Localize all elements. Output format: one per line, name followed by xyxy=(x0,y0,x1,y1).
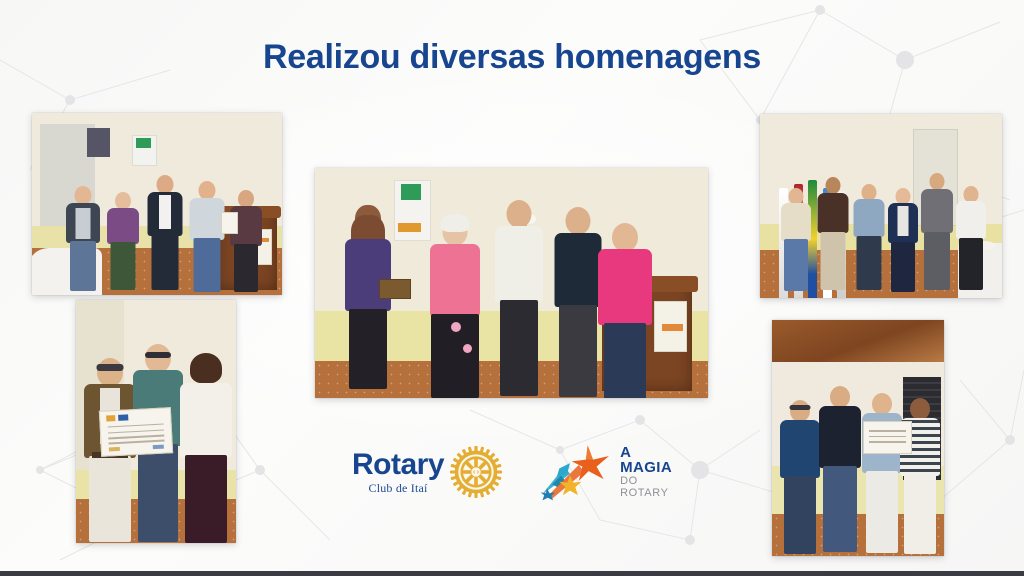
logo-area: Rotary Club de Itaí xyxy=(352,437,672,507)
rotary-wheel-icon xyxy=(450,446,502,498)
shooting-stars-icon xyxy=(538,440,616,504)
photo-top-right xyxy=(760,114,1002,298)
certificate xyxy=(863,421,911,454)
photo-top-left xyxy=(32,113,282,295)
slide-title: Realizou diversas homenagens xyxy=(0,38,1024,77)
rotary-club-name: Club de Itaí xyxy=(368,482,427,494)
rotary-wordmark: Rotary xyxy=(352,450,444,480)
theme-line-2: DO ROTARY xyxy=(620,476,682,499)
rotary-logo: Rotary Club de Itaí xyxy=(352,446,502,498)
theme-logo: A MAGIA DO ROTARY xyxy=(538,440,682,504)
presentation-slide: Realizou diversas homenagens xyxy=(0,0,1024,576)
photo-center xyxy=(315,168,708,398)
certificate xyxy=(99,407,174,456)
photo-bottom-left xyxy=(76,300,236,543)
bottom-bar xyxy=(0,571,1024,576)
theme-line-1: A MAGIA xyxy=(620,445,682,477)
photo-bottom-right xyxy=(772,320,944,556)
